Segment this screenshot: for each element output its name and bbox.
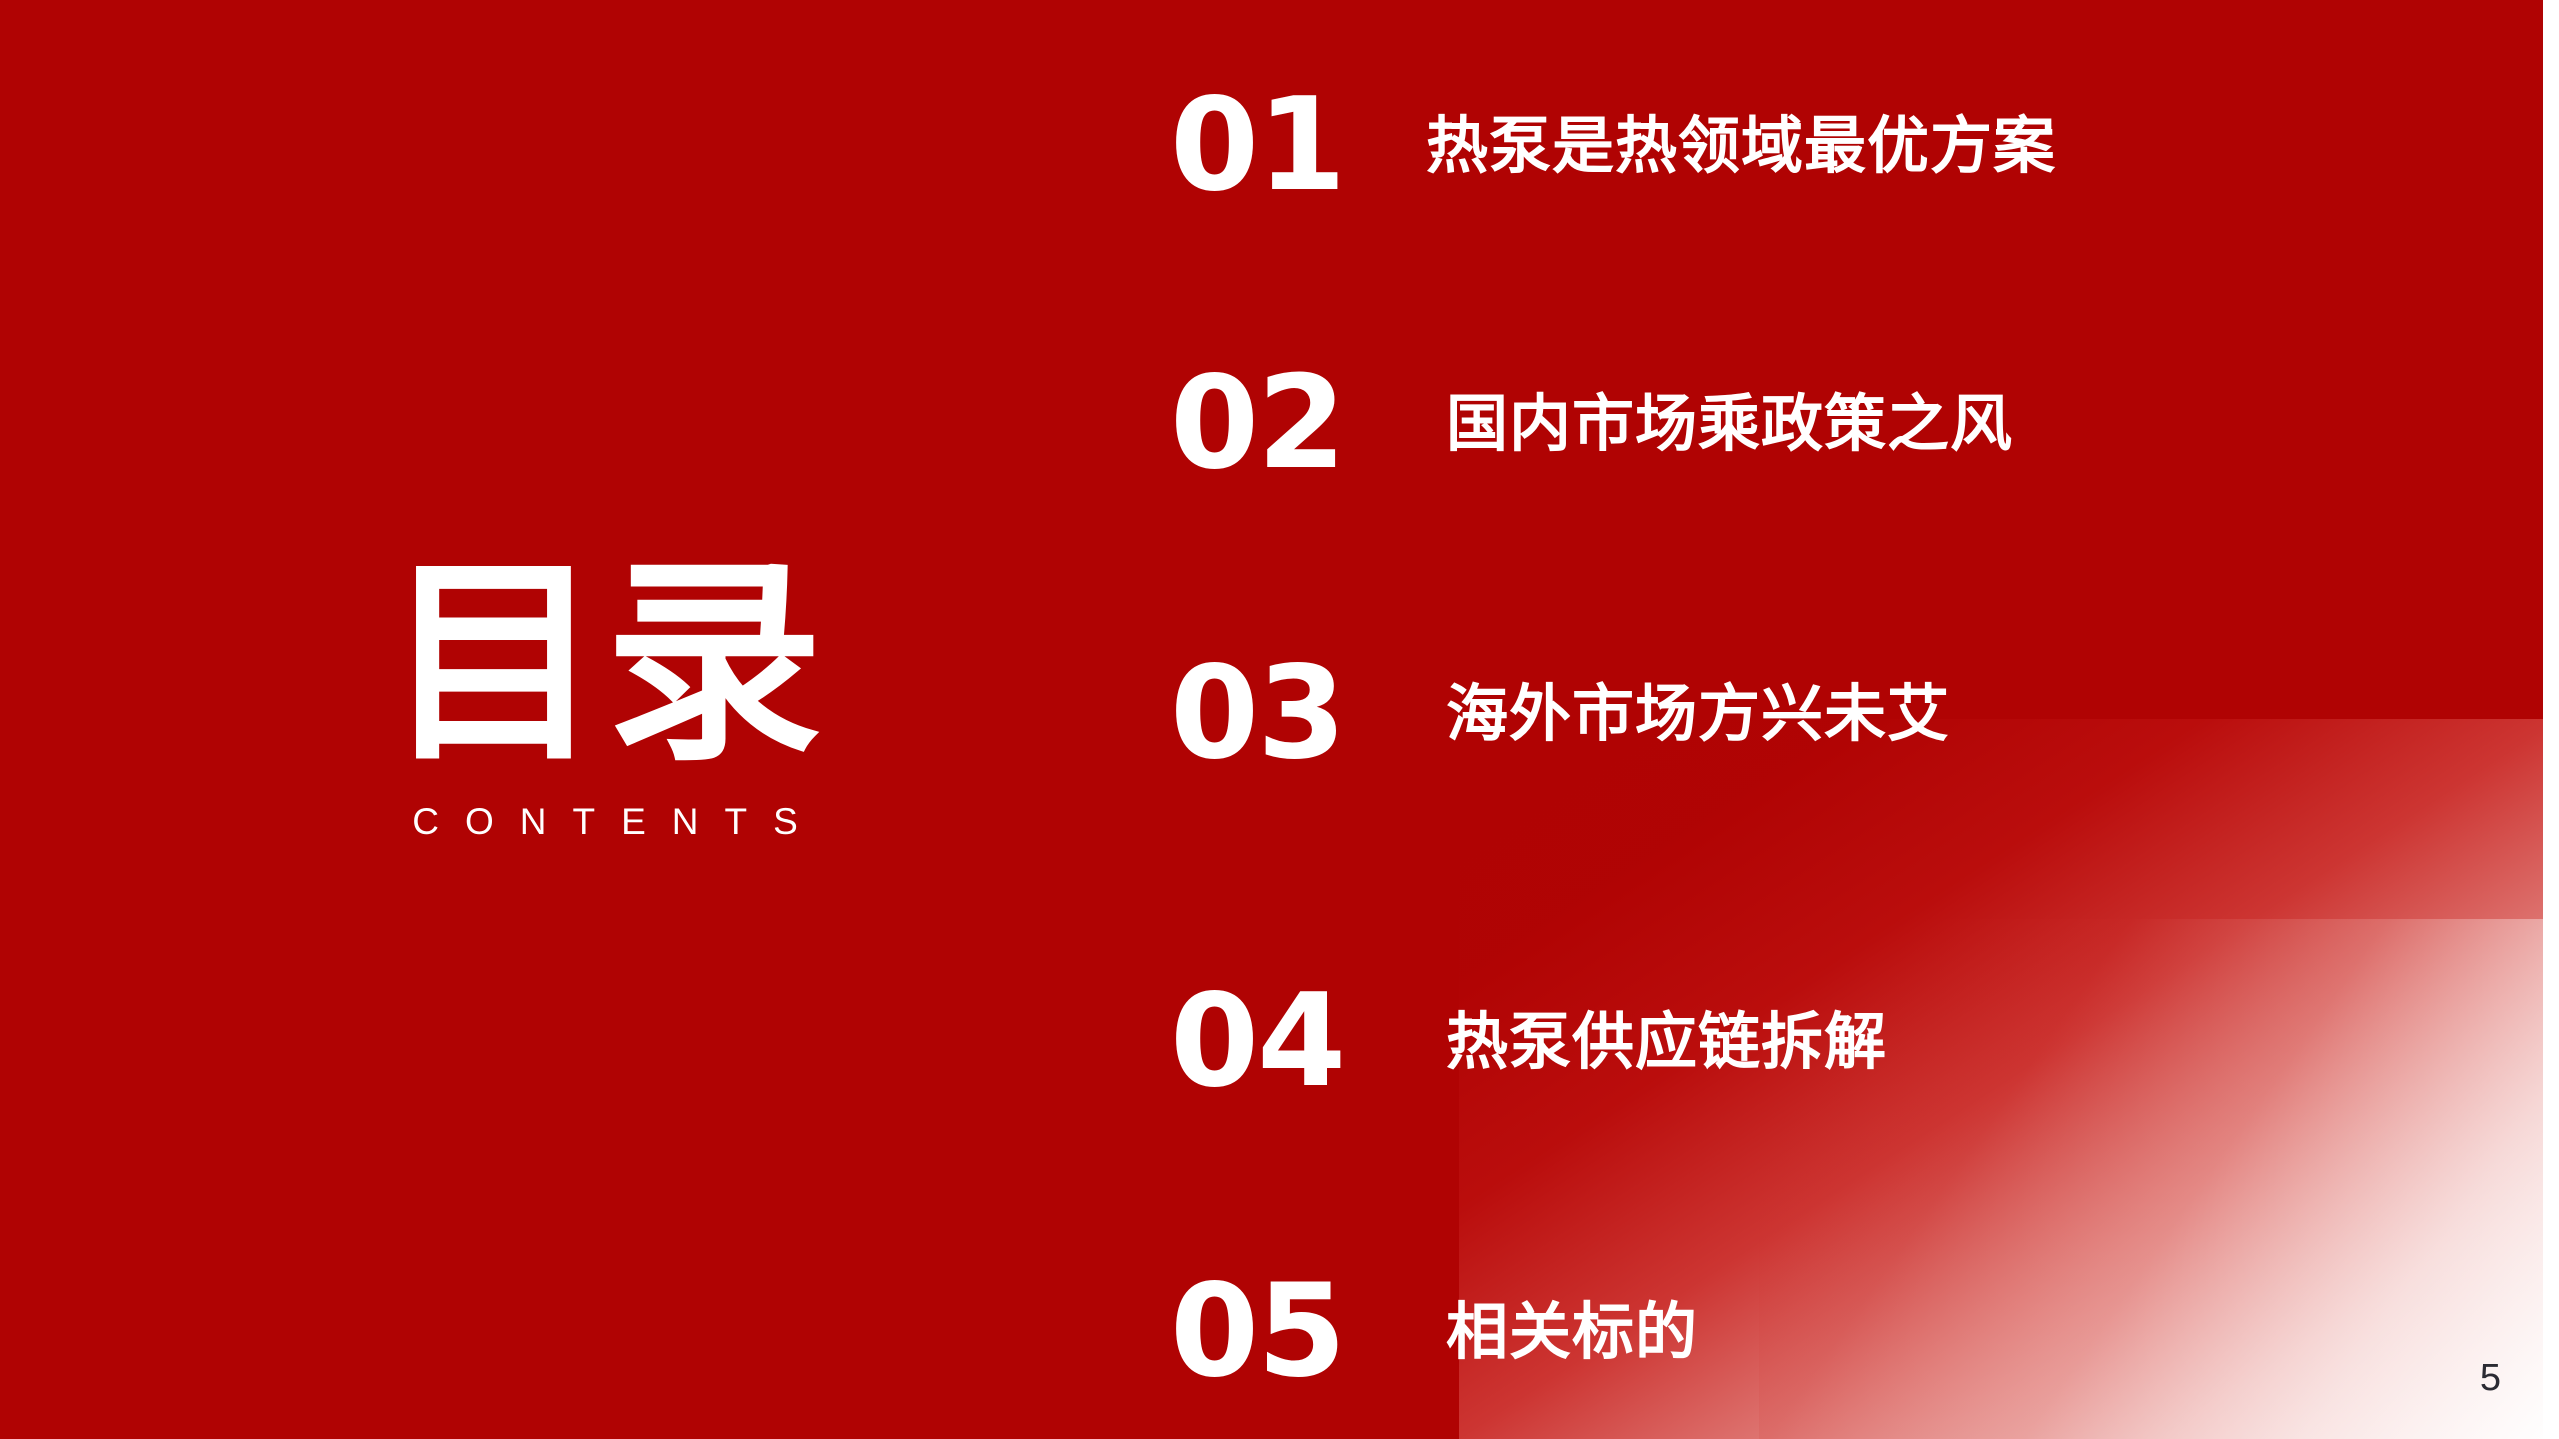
agenda-item-01[interactable]: 01 热泵是热领域最优方案 (1170, 82, 2056, 210)
page-edge-right (2543, 0, 2559, 1439)
slide-canvas: 目录 CONTENTS 01 热泵是热领域最优方案 02 国内市场乘政策之风 0… (0, 0, 2559, 1439)
agenda-item-05[interactable]: 05 相关标的 (1170, 1268, 1698, 1396)
page-title-en: CONTENTS (70, 802, 1140, 842)
agenda-label: 海外市场方兴未艾 (1446, 680, 1950, 748)
agenda-item-04[interactable]: 04 热泵供应链拆解 (1170, 978, 1887, 1106)
agenda-label: 相关标的 (1446, 1298, 1698, 1366)
agenda-item-03[interactable]: 03 海外市场方兴未艾 (1170, 650, 1950, 778)
agenda-number: 02 (1170, 360, 1378, 488)
page-title-cn: 目录 (70, 560, 1140, 770)
agenda-list: 01 热泵是热领域最优方案 02 国内市场乘政策之风 03 海外市场方兴未艾 0… (1170, 0, 2559, 1439)
agenda-label: 热泵供应链拆解 (1446, 1008, 1887, 1076)
title-block: 目录 CONTENTS (0, 560, 1140, 842)
agenda-number: 01 (1170, 82, 1378, 210)
page-number: 5 (2480, 1359, 2501, 1397)
agenda-number: 05 (1170, 1268, 1378, 1396)
agenda-label: 国内市场乘政策之风 (1446, 390, 2013, 458)
agenda-number: 03 (1170, 650, 1378, 778)
agenda-label: 热泵是热领域最优方案 (1426, 112, 2056, 180)
agenda-number: 04 (1170, 978, 1378, 1106)
agenda-item-02[interactable]: 02 国内市场乘政策之风 (1170, 360, 2013, 488)
